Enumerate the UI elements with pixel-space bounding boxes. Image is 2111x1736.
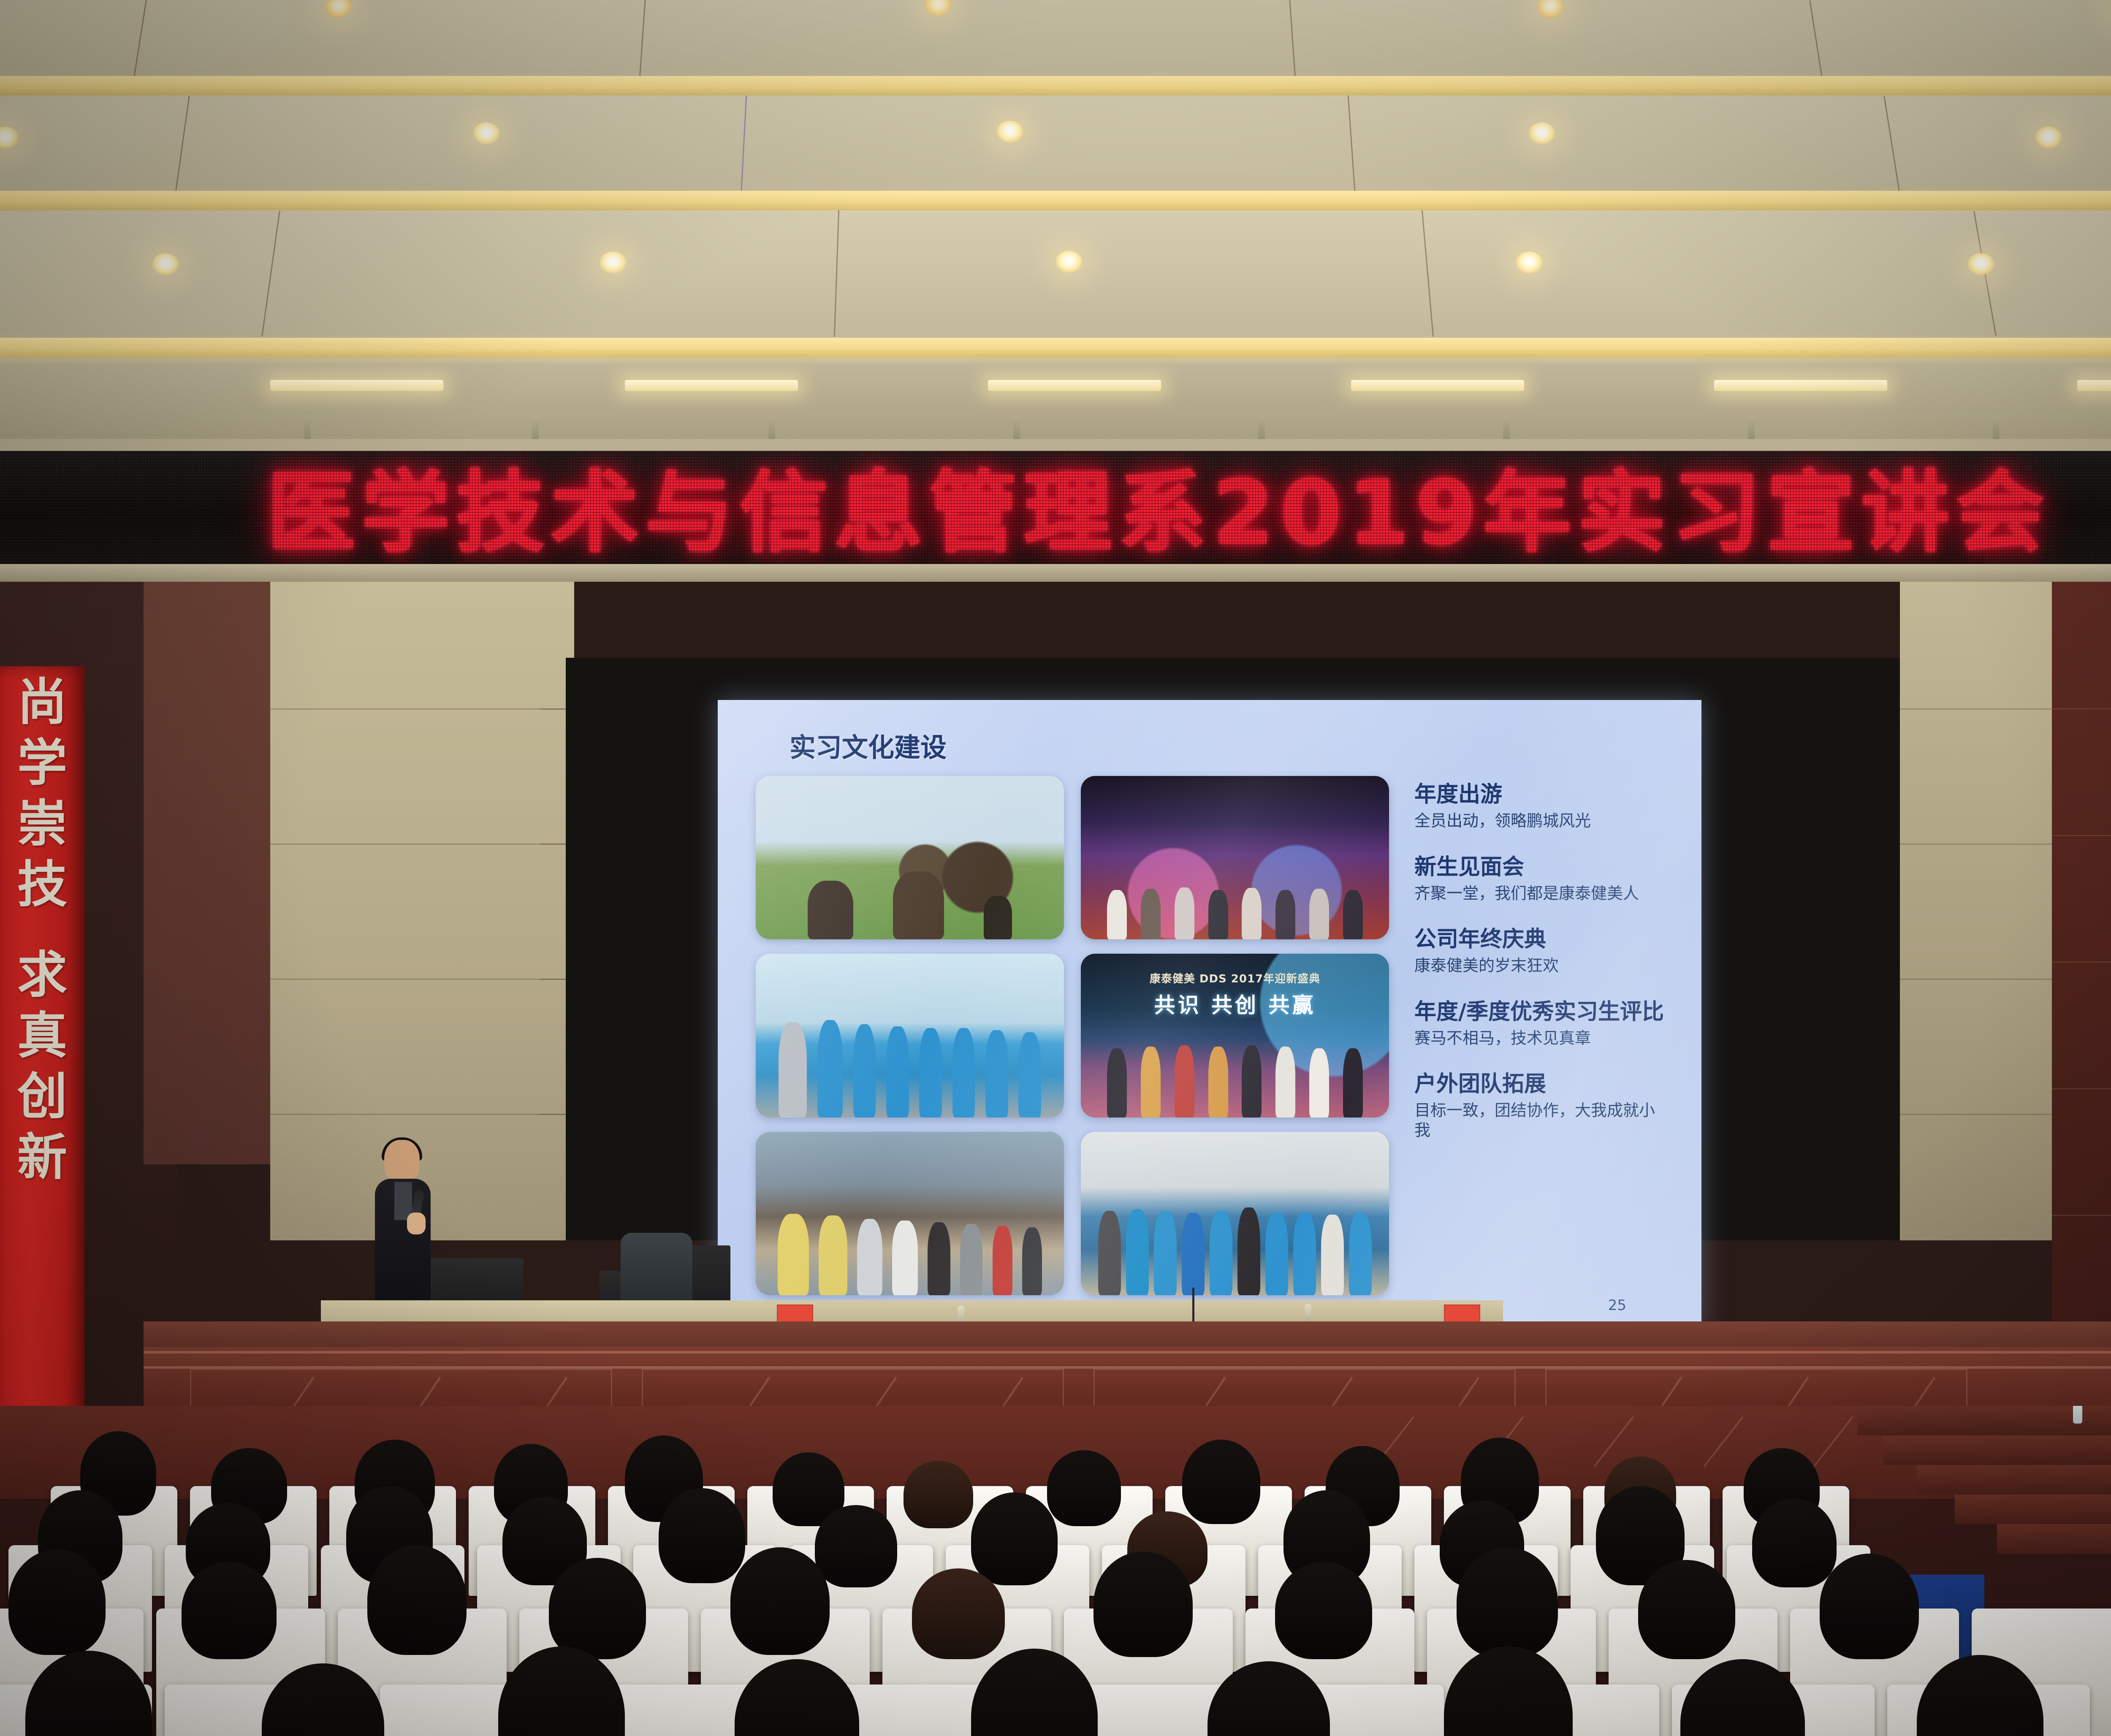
- photo-awards-stage: 康泰健美 DDS 2017年迎新盛典 共识 共创 共赢: [1081, 954, 1389, 1117]
- slide-item-heading: 公司年终庆典: [1414, 928, 1668, 952]
- slide-item: 年度/季度优秀实习生评比 赛马不相马，技术见真章: [1414, 1000, 1668, 1048]
- stage-black-backdrop-top: [1013, 658, 1706, 700]
- projection-screen: 实习文化建设: [718, 700, 1701, 1329]
- ceiling-downlight: [1055, 251, 1083, 273]
- led-banner: 医学技术与信息管理系2019年实习宣讲会: [0, 451, 2111, 564]
- right-beige-wall: [1900, 582, 2069, 1240]
- left-vertical-banner: 尚 学 崇 技 求 真 创 新: [0, 666, 84, 1426]
- banner-char: 新: [17, 1132, 67, 1182]
- ceiling: [0, 0, 2111, 439]
- ceiling-soffit: [0, 363, 2111, 439]
- photo-corridor-lineup: [756, 954, 1064, 1117]
- left-wall-wood-panel: [144, 582, 279, 1164]
- presenter: [372, 1140, 435, 1321]
- photo-awards-subcaption: 共识 共创 共赢: [1081, 988, 1389, 1019]
- audience-head: [8, 1549, 106, 1655]
- stage-black-backdrop: [1701, 658, 1900, 1240]
- led-banner-bottom-trim: [0, 564, 2111, 582]
- soffit-rail: [194, 412, 2111, 417]
- led-banner-text: 医学技术与信息管理系2019年实习宣讲会: [267, 451, 2050, 564]
- banner-char: 真: [17, 1011, 67, 1061]
- presenter-head: [384, 1140, 420, 1182]
- soffit-light: [625, 380, 798, 391]
- audience-head: [971, 1492, 1058, 1585]
- banner-char: 尚: [17, 677, 67, 727]
- ceiling-downlight: [1967, 253, 1994, 275]
- soffit-light: [988, 380, 1161, 391]
- audience-head: [1275, 1562, 1372, 1659]
- banner-char: 学: [17, 738, 67, 788]
- soffit-light: [1714, 380, 1887, 391]
- audience-head: [815, 1505, 897, 1587]
- audience-head: [730, 1547, 830, 1655]
- audience-area: [0, 1406, 2111, 1736]
- microphone-gooseneck: [1192, 1288, 1194, 1325]
- slide-item-body: 康泰健美的岁末狂欢: [1414, 956, 1668, 975]
- banner-char: 技: [17, 860, 67, 909]
- soffit-hook: [1258, 415, 1265, 439]
- slide-item-body: 目标一致，团结协作，大我成就小我: [1414, 1101, 1668, 1140]
- audience-head: [1093, 1552, 1193, 1657]
- slide-item-body: 齐聚一堂，我们都是康泰健美人: [1414, 884, 1668, 903]
- auditorium-photo: 医学技术与信息管理系2019年实习宣讲会 尚 学 崇 技 求 真 创 新: [0, 0, 2111, 1736]
- ceiling-downlight: [473, 122, 500, 144]
- soffit-hook: [768, 415, 775, 439]
- soffit-light: [270, 380, 443, 391]
- photo-certificate-group: [1081, 1132, 1389, 1295]
- slide-page-number: 25: [1608, 1297, 1626, 1314]
- soffit-hook: [1013, 415, 1020, 439]
- slide-item: 新生见面会 齐聚一堂，我们都是康泰健美人: [1414, 855, 1668, 903]
- audience-head: [367, 1545, 467, 1655]
- slide-item-body: 赛马不相马，技术见真章: [1414, 1028, 1668, 1048]
- audience-head: [549, 1558, 646, 1659]
- slide-title: 实习文化建设: [790, 726, 947, 764]
- slide-photo-grid: 康泰健美 DDS 2017年迎新盛典 共识 共创 共赢: [756, 776, 1389, 1295]
- ceiling-downlight: [1528, 122, 1555, 144]
- audience-head: [1047, 1450, 1121, 1526]
- slide-item-heading: 新生见面会: [1414, 855, 1668, 879]
- photo-outing-hug: [756, 776, 1064, 939]
- soffit-hook: [304, 415, 311, 439]
- ceiling-downlight: [996, 121, 1023, 143]
- soffit-light: [1351, 380, 1524, 391]
- soffit-hook: [1503, 415, 1510, 439]
- audience-head: [1638, 1560, 1735, 1659]
- photo-group-outdoor: [756, 1132, 1064, 1295]
- presenter-hand: [407, 1212, 426, 1234]
- slide-item: 年度出游 全员出动，领略鹏城风光: [1414, 783, 1668, 831]
- soffit-light: [2077, 380, 2111, 391]
- slide-item-body: 全员出动，领略鹏城风光: [1414, 811, 1668, 830]
- banner-char: 创: [17, 1071, 67, 1121]
- slide-item: 公司年终庆典 康泰健美的岁末狂欢: [1414, 928, 1668, 976]
- audience-head: [1752, 1499, 1837, 1587]
- water-bottle: [2073, 1406, 2082, 1424]
- slide-item: 户外团队拓展 目标一致，团结协作，大我成就小我: [1414, 1072, 1668, 1140]
- slide-item-heading: 年度/季度优秀实习生评比: [1414, 1000, 1668, 1024]
- slide-text-column: 年度出游 全员出动，领略鹏城风光 新生见面会 齐聚一堂，我们都是康泰健美人 公司…: [1414, 783, 1668, 1164]
- audience-head: [912, 1568, 1005, 1659]
- photo-awards-caption: 康泰健美 DDS 2017年迎新盛典: [1081, 970, 1389, 986]
- audience-head: [1182, 1440, 1260, 1524]
- ceiling-downlight: [2035, 127, 2062, 149]
- ceiling-downlight: [152, 253, 179, 275]
- audience-head: [659, 1488, 745, 1583]
- slide-item-heading: 户外团队拓展: [1414, 1072, 1668, 1096]
- banner-char: 崇: [17, 799, 67, 849]
- photo-stage-ceremony: [1081, 776, 1389, 939]
- soffit-hook: [1748, 415, 1755, 439]
- audience-head: [1820, 1554, 1919, 1659]
- slide-item-heading: 年度出游: [1414, 783, 1668, 807]
- soffit-hook: [532, 415, 539, 439]
- audience-head: [1457, 1547, 1558, 1657]
- audience-head: [904, 1461, 973, 1528]
- banner-char: 求: [17, 950, 67, 1000]
- right-wall-wood: [2052, 582, 2111, 1426]
- ceiling-downlight: [600, 252, 627, 274]
- audience-head: [182, 1562, 277, 1659]
- ceiling-downlight: [1516, 252, 1543, 274]
- soffit-hook: [1993, 415, 2000, 439]
